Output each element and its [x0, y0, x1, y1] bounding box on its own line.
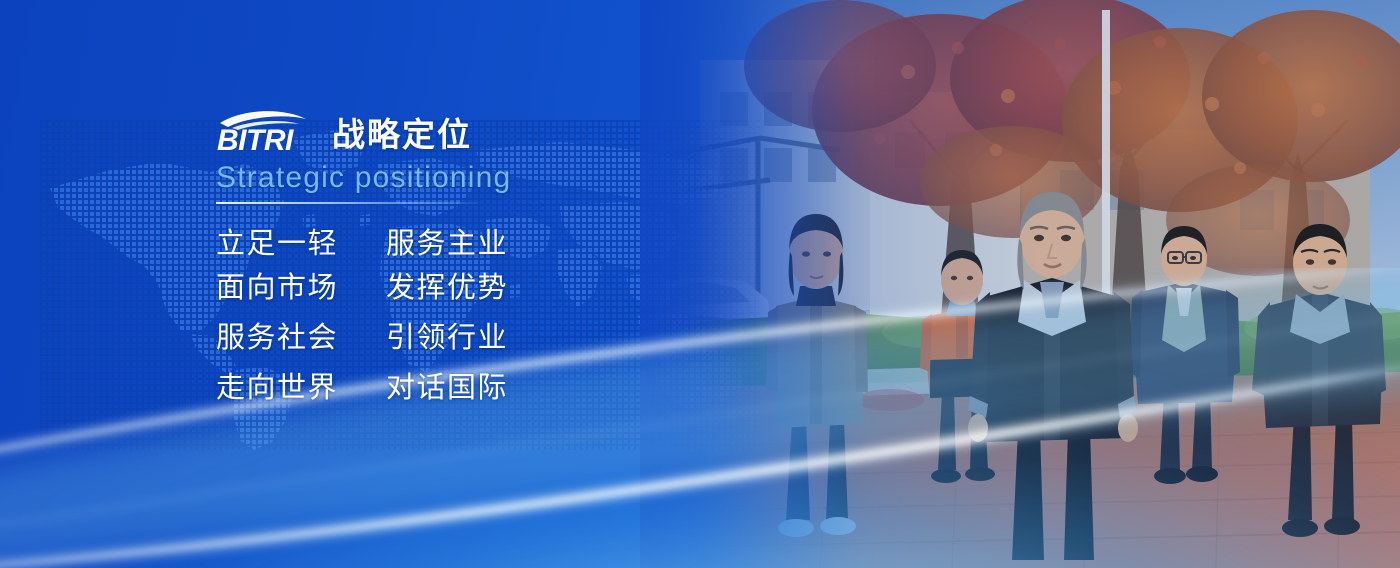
slogan-right: 对话国际 [386, 366, 508, 410]
title-divider [216, 202, 478, 204]
slogan-left: 立足一轻 [216, 222, 360, 266]
campus-photo [640, 0, 1400, 568]
slogan-row: 立足一轻 服务主业 [216, 222, 686, 266]
slogan-left: 服务社会 [216, 316, 360, 360]
slogan-right: 引领行业 [386, 316, 508, 360]
slogan-right: 服务主业 [386, 222, 508, 266]
brand-subtitle-en: Strategic positioning [216, 161, 686, 196]
brand-lockup: BITRI 战略定位 [216, 104, 686, 154]
slogan-right: 发挥优势 [386, 266, 508, 310]
svg-text:BITRI: BITRI [217, 124, 294, 154]
slogan-left: 走向世界 [216, 366, 360, 410]
brand-title-cn: 战略定位 [332, 118, 472, 154]
bitri-logo: BITRI [216, 108, 318, 154]
slogan-row: 走向世界 对话国际 [216, 366, 686, 410]
slogan-row: 面向市场 发挥优势 [216, 266, 686, 310]
slogan-left: 面向市场 [216, 266, 360, 310]
strategic-positioning-banner: BITRI 战略定位 Strategic positioning 立足一轻 服务… [0, 0, 1400, 568]
slogan-list: 立足一轻 服务主业 面向市场 发挥优势 服务社会 引领行业 走向世界 对话国际 [216, 222, 686, 410]
banner-content: BITRI 战略定位 Strategic positioning 立足一轻 服务… [216, 104, 686, 410]
slogan-row: 服务社会 引领行业 [216, 316, 686, 360]
